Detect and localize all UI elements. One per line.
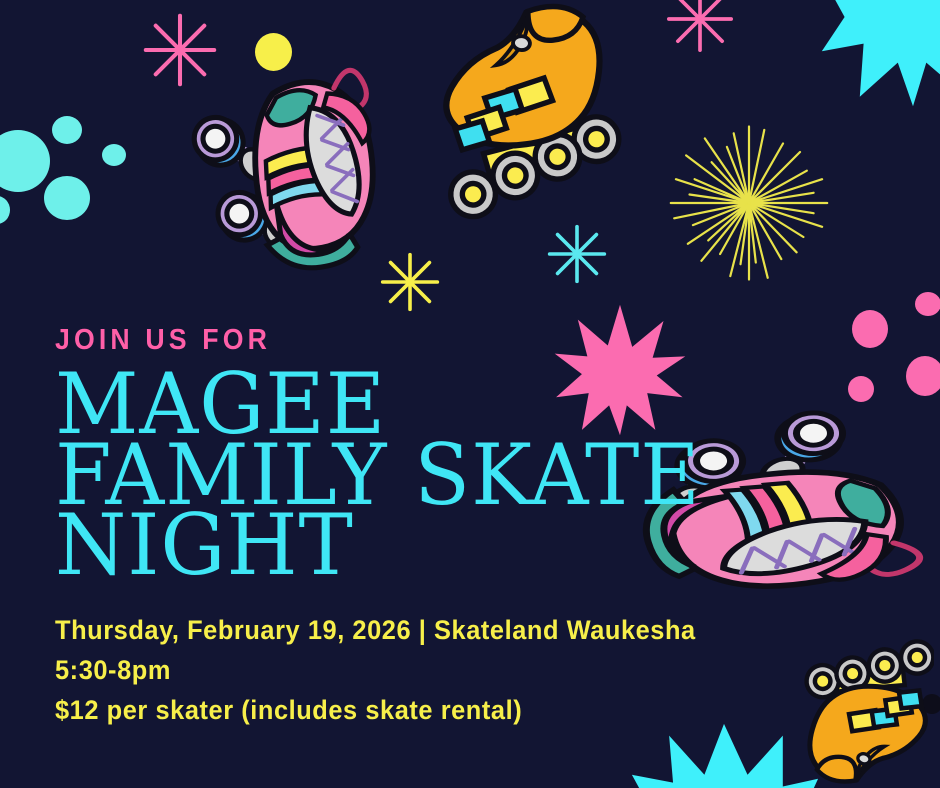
- pink-dot: [915, 292, 940, 316]
- orange-inline-skate-illustration: [440, 0, 640, 238]
- cyan-sparkle-icon: [541, 218, 613, 290]
- aqua-dot: [102, 144, 126, 166]
- detail-time: 5:30-8pm: [55, 651, 798, 691]
- cyan-star-icon: [818, 0, 940, 112]
- detail-price: $12 per skater (includes skate rental): [55, 691, 798, 731]
- pink-sparkle-icon: [659, 0, 741, 60]
- detail-date-venue: Thursday, February 19, 2026 | Skateland …: [55, 611, 798, 651]
- radial-burst-icon: [664, 118, 834, 288]
- event-flyer: JOIN US FOR MAGEE FAMILY SKATE NIGHT Thu…: [0, 0, 940, 788]
- aqua-dot: [0, 130, 50, 192]
- aqua-dot: [52, 116, 82, 144]
- eyebrow-text: JOIN US FOR: [55, 326, 782, 355]
- event-details: Thursday, February 19, 2026 | Skateland …: [55, 611, 798, 731]
- pink-dot: [852, 310, 888, 348]
- aqua-dot: [0, 196, 10, 224]
- corner-dot: [922, 694, 940, 714]
- flyer-text-block: JOIN US FOR MAGEE FAMILY SKATE NIGHT Thu…: [55, 326, 845, 731]
- yellow-sparkle-icon: [374, 246, 446, 318]
- pink-roller-skate-illustration: [178, 44, 398, 278]
- yellow-dot: [255, 33, 292, 71]
- pink-dot: [906, 356, 940, 396]
- page-title: MAGEE FAMILY SKATE NIGHT: [55, 369, 821, 581]
- aqua-dot: [44, 176, 90, 220]
- pink-sparkle-icon: [135, 5, 225, 95]
- pink-dot: [848, 376, 874, 402]
